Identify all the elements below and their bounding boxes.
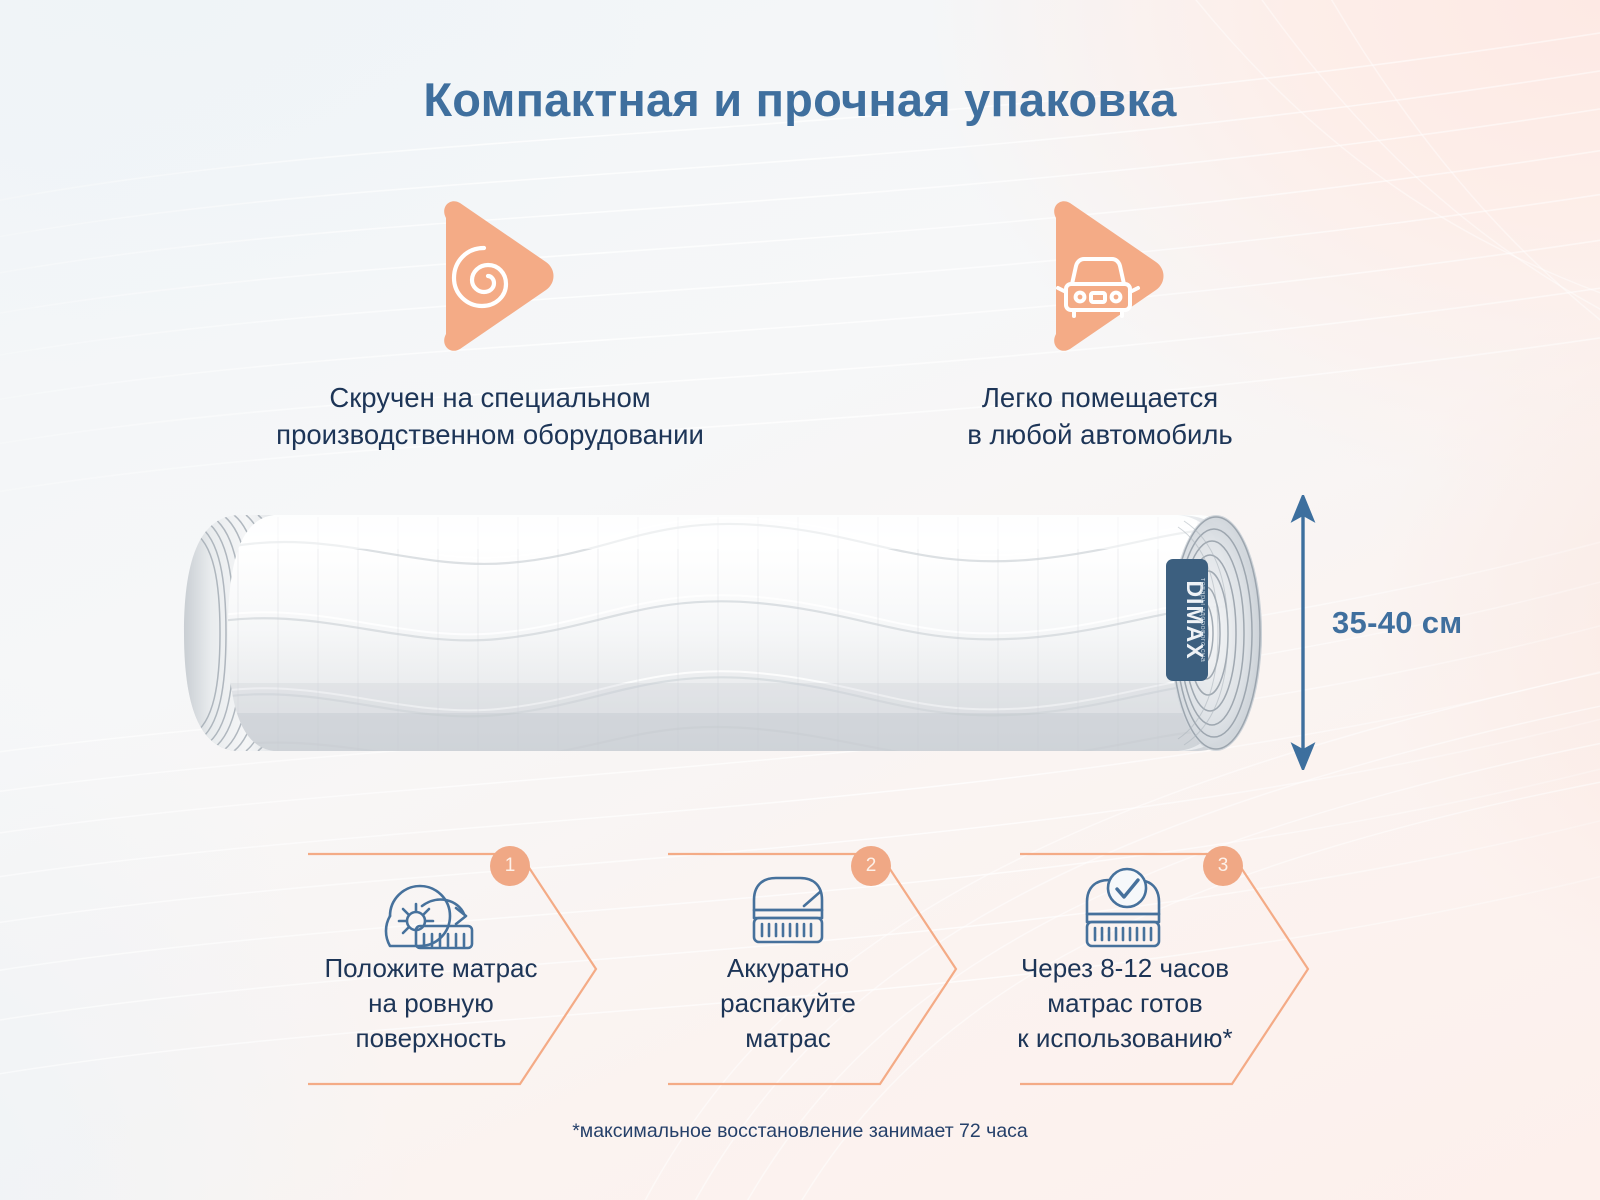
step-caption: Аккуратно распакуйте матрас [648,951,928,1056]
rolled-mattress-image: DIMAX товары здорового сна [178,497,1288,769]
steps-section: 1 2 3 [0,838,1600,1100]
roll-body [178,515,1288,763]
step-caption: Положите матрас на ровную поверхность [286,951,576,1056]
footnote: *максимальное восстановление занимает 72… [0,1120,1600,1143]
mattress-unpack-icon [742,866,832,956]
step-number-badge: 2 [851,846,891,886]
step-number-badge: 3 [1203,846,1243,886]
feature-caption: Легко помещается в любой автомобиль [860,379,1340,453]
dimax-brand-tag: DIMAX товары здорового сна [1166,559,1208,681]
rounded-triangle-right-shape [410,196,570,356]
page-title: Компактная и прочная упаковка [0,72,1600,127]
feature-icon-badge [180,196,800,371]
step-caption: Через 8-12 часов матрас готов к использо… [975,951,1275,1056]
double-arrow-vertical-icon [1294,497,1312,768]
mattress-check-icon [1077,864,1172,956]
dimax-tag-subtitle: товары здорового сна [1199,578,1208,663]
step-number-badge: 1 [490,846,530,886]
feature-icon-badge [860,196,1340,371]
feature-caption: Скручен на специальном производственном … [180,379,800,453]
feature-block-car: Легко помещается в любой автомобиль [860,196,1340,453]
dimension-label: 35-40 см [1332,605,1462,641]
feature-block-rolled: Скручен на специальном производственном … [180,196,800,453]
rounded-triangle-right-shape [1020,196,1180,356]
rolled-mattress-unroll-icon [376,864,486,959]
